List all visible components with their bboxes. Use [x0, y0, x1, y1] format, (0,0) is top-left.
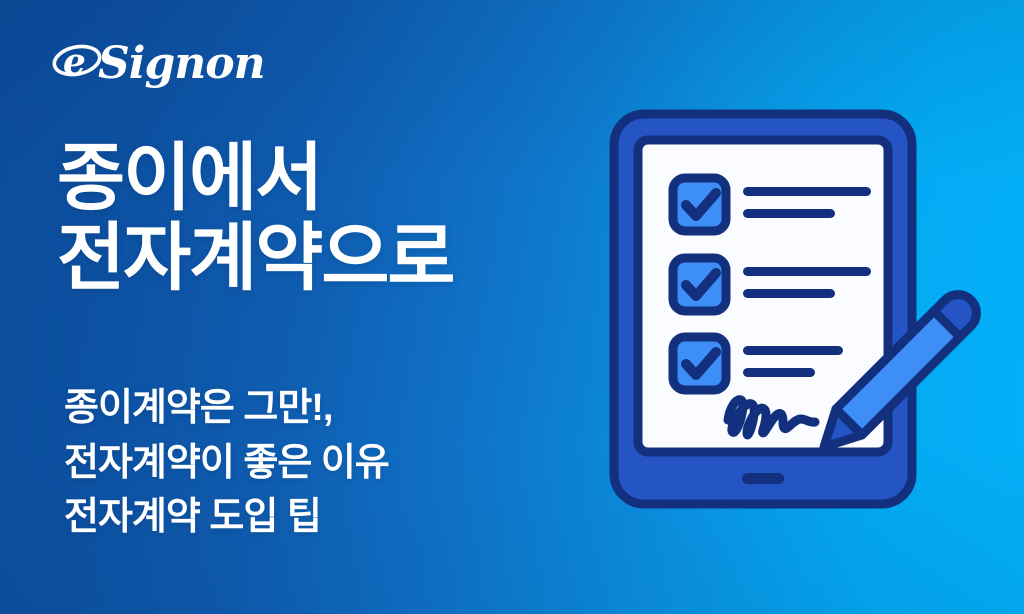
checklist-line-2b	[743, 289, 835, 298]
subtitle-line-1: 종이계약은 그만!,	[64, 381, 584, 436]
esignon-logo-graphic: e Signon	[52, 33, 272, 89]
headline-line-2: 전자계약으로	[57, 218, 577, 298]
tablet-home-button[interactable]	[742, 473, 784, 484]
subtitle-line-3: 전자계약 도입 팁	[64, 490, 584, 545]
subtitle: 종이계약은 그만!, 전자계약이 좋은 이유 전자계약 도입 팁	[64, 381, 584, 545]
checklist-line-2a	[743, 267, 871, 276]
tablet-device	[614, 114, 912, 504]
esignon-logo[interactable]: e Signon	[52, 33, 272, 89]
headline-line-1: 종이에서	[57, 138, 577, 218]
tablet-contract-illustration	[588, 84, 1008, 524]
logo-e-mark: e	[63, 41, 86, 83]
logo-wordmark: Signon	[98, 38, 265, 89]
checklist-line-3a	[743, 346, 843, 355]
subtitle-line-2: 전자계약이 좋은 이유	[64, 436, 584, 491]
checklist-line-1b	[743, 209, 835, 218]
promo-banner: e Signon 종이에서 전자계약으로 종이계약은 그만!, 전자계약이 좋은…	[0, 0, 1024, 614]
checklist-line-3b	[743, 368, 815, 377]
checklist-line-1a	[743, 187, 871, 196]
headline: 종이에서 전자계약으로	[57, 138, 577, 298]
